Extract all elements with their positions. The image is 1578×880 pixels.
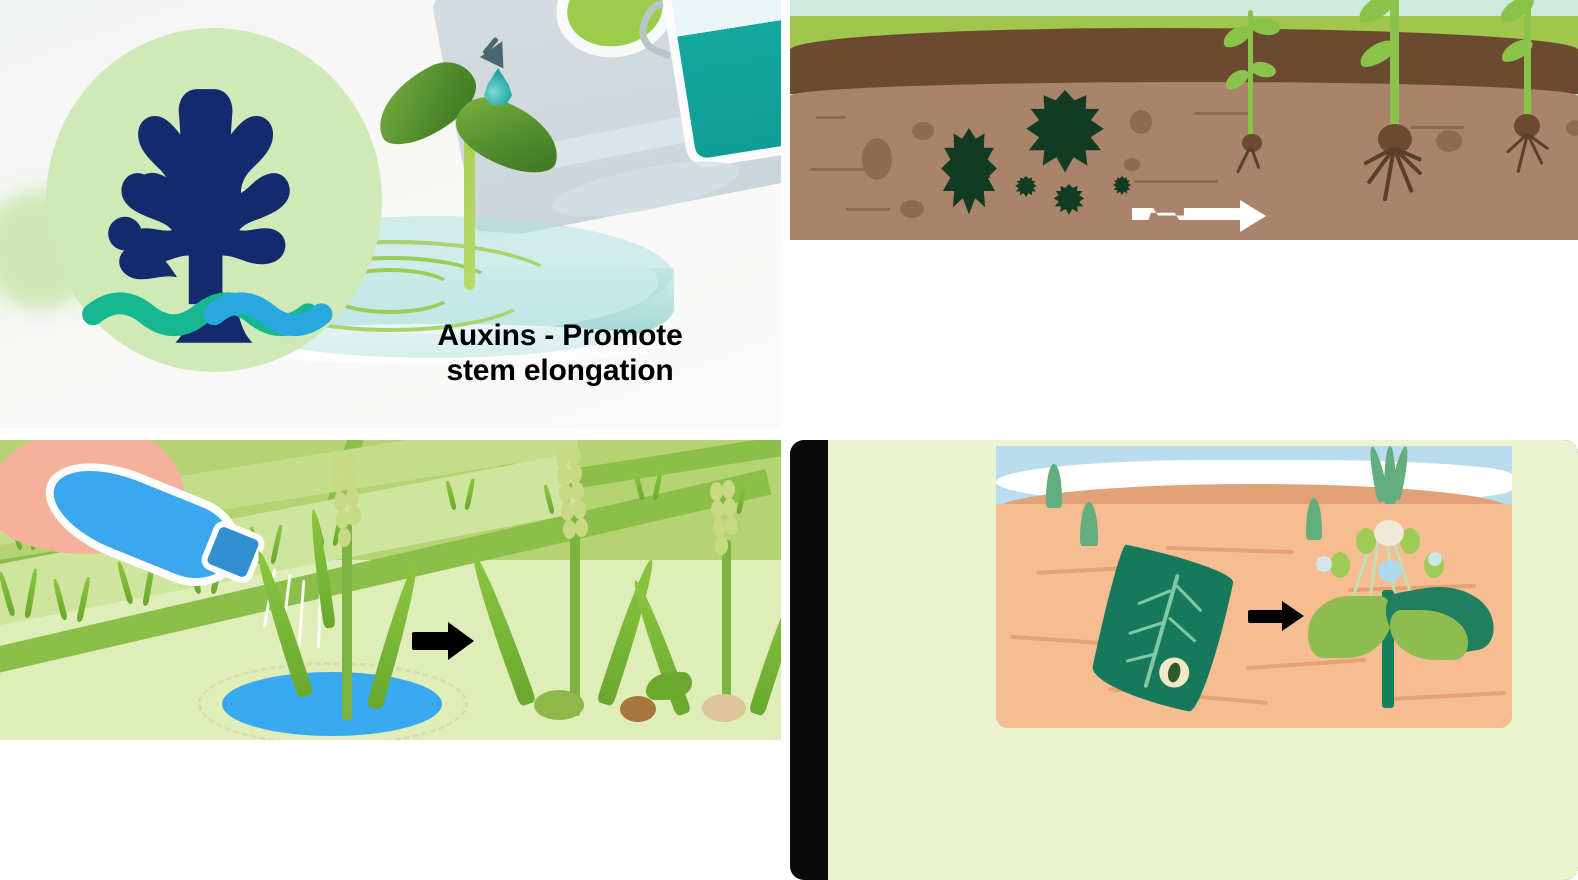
rice-paddy-illustration [0, 440, 781, 740]
arrow-head [1240, 200, 1266, 232]
soil-crack [816, 116, 846, 119]
arrow-head [1282, 601, 1304, 631]
flower-bud [1356, 528, 1376, 554]
transformation-arrow-icon [1248, 598, 1314, 636]
leaf-vein [1175, 584, 1202, 612]
seed-stage-3 [702, 694, 746, 722]
panel-cytokinins[interactable]: Cytokinins - Stimulate cell division and… [790, 0, 1578, 428]
soil-crack [1194, 112, 1252, 115]
caption-auxins-line2: stem elongation [446, 354, 673, 387]
drought-resistant-plant [1296, 518, 1486, 718]
arrow-body [412, 632, 452, 650]
mist-droplet [1378, 560, 1402, 582]
mist-droplet [1316, 556, 1332, 572]
soil-crack [1410, 126, 1464, 129]
mist-droplet [1428, 552, 1442, 566]
seed-stage-1 [534, 690, 584, 720]
rice-ear [710, 480, 736, 590]
transfer-arrow-icon [1132, 196, 1282, 240]
soil-clod [1124, 158, 1140, 171]
flower-bud [1330, 552, 1350, 578]
desert-illustration [996, 446, 1512, 728]
water-droplet-icon [484, 68, 512, 106]
stoma-icon [1156, 655, 1192, 691]
infographic-grid: Auxins - Promote stem elongation [0, 0, 1578, 880]
soil-clod [1436, 130, 1462, 152]
soil-clod [1566, 120, 1578, 136]
soil-clod [1130, 110, 1152, 134]
mist-droplet [1374, 520, 1404, 546]
panel-abscisic-acid[interactable]: Abscisic Acid - Regulate stomatal openin… [790, 440, 1578, 880]
soil-clod [912, 122, 934, 140]
plant-leaf-left [1308, 596, 1392, 658]
arrow-body [1132, 208, 1250, 220]
coral-seaweed-logo [46, 28, 382, 372]
rice-plant-treated [280, 458, 420, 728]
soil-clod [900, 200, 924, 218]
seed-stage-2 [620, 696, 656, 722]
caption-auxins: Auxins - Promote stem elongation [360, 318, 760, 389]
soil-crack [810, 168, 868, 171]
seedling-illustration [380, 44, 560, 284]
stoma-pore [1166, 661, 1182, 683]
soil-clod [862, 138, 892, 180]
soil-crack [1134, 180, 1218, 183]
panel-auxins[interactable]: Auxins - Promote stem elongation [0, 0, 781, 428]
transformation-arrow-icon [412, 622, 476, 660]
soil-cross-section-illustration [790, 0, 1578, 240]
rice-ear [556, 446, 582, 556]
caption-auxins-line1: Auxins - Promote [437, 319, 682, 352]
leaf-vein [1168, 617, 1197, 643]
arrow-head [448, 622, 474, 660]
rice-ear [330, 452, 356, 562]
soil-crack [846, 208, 890, 211]
panel-gibberellins[interactable]: Gibberellins - Break seed dormancy, prom… [0, 440, 781, 880]
